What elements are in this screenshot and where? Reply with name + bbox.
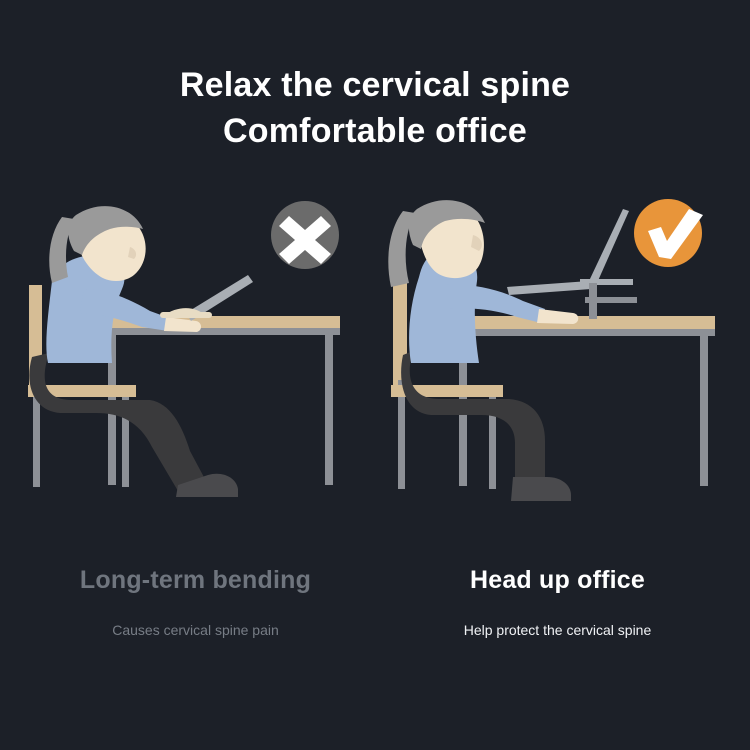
person-legs	[401, 351, 571, 501]
caption-sub-good: Help protect the cervical spine	[370, 621, 745, 639]
page-title: Relax the cervical spine Comfortable off…	[0, 62, 750, 154]
person-head	[49, 206, 145, 283]
title-line-2: Comfortable office	[0, 108, 750, 154]
caption-bad-posture: Long-term bending Causes cervical spine …	[8, 565, 383, 639]
x-mark-icon	[271, 201, 339, 269]
title-line-1: Relax the cervical spine	[0, 62, 750, 108]
infographic-poster: Relax the cervical spine Comfortable off…	[0, 0, 750, 750]
caption-title-good: Head up office	[370, 565, 745, 595]
person-legs	[29, 353, 238, 497]
check-mark-icon	[634, 199, 703, 267]
laptop	[160, 275, 253, 321]
caption-good-posture: Head up office Help protect the cervical…	[370, 565, 745, 639]
caption-title-bad: Long-term bending	[8, 565, 383, 595]
caption-sub-bad: Causes cervical spine pain	[8, 621, 383, 639]
illustration-area	[0, 185, 750, 525]
panel-good-posture	[375, 185, 750, 525]
panel-bad-posture	[0, 185, 375, 525]
